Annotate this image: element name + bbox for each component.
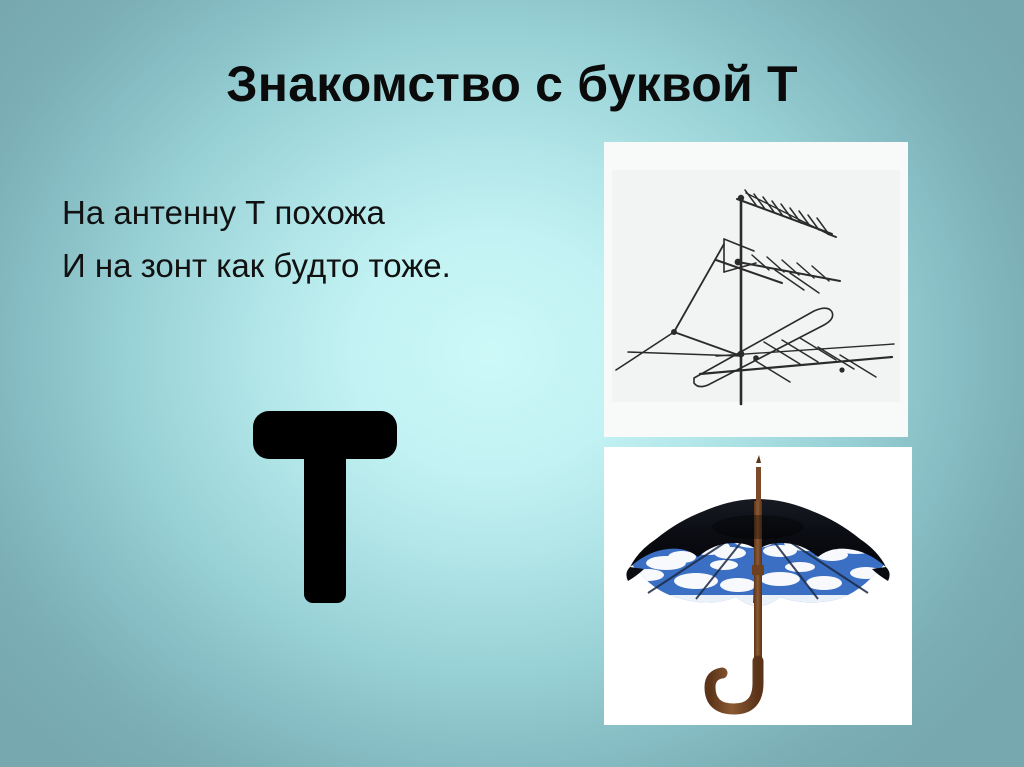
verse-line-1: На антенну Т похожа [62, 186, 451, 239]
antenna-photo [604, 142, 908, 437]
antenna-illustration [604, 142, 908, 437]
slide: Знакомство с буквой Т На антенну Т похож… [0, 0, 1024, 767]
umbrella-photo [604, 447, 912, 725]
verse-text-block: На антенну Т похожа И на зонт как будто … [62, 186, 451, 293]
page-title: Знакомство с буквой Т [0, 56, 1024, 112]
umbrella-illustration [604, 447, 912, 725]
big-letter-t [253, 411, 397, 603]
letter-t-stem [304, 441, 346, 603]
verse-line-2: И на зонт как будто тоже. [62, 239, 451, 292]
